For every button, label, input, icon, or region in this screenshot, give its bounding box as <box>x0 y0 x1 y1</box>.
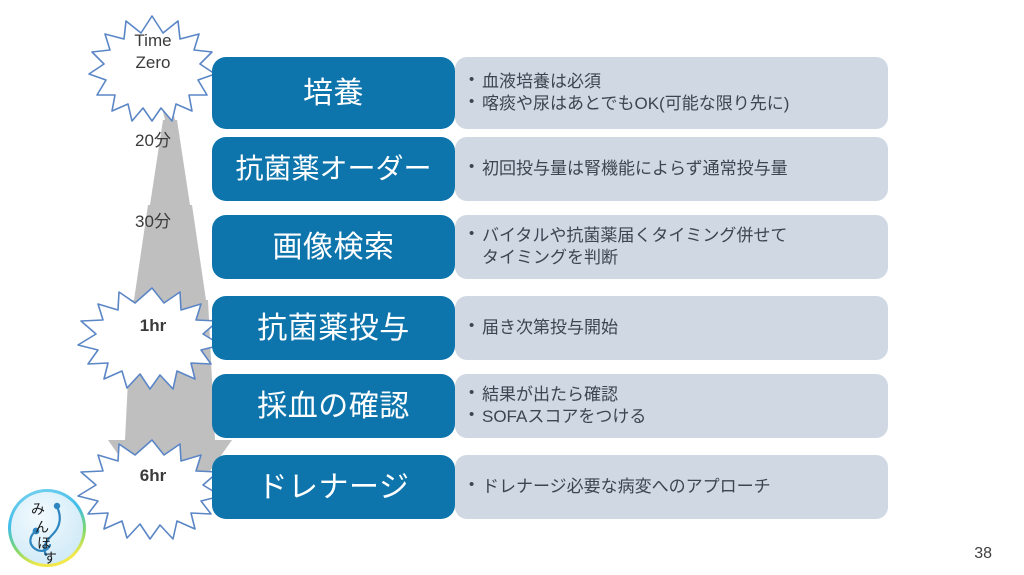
stage-row: 画像検索 バイタルや抗菌薬届くタイミング併せて タイミングを判断 <box>212 215 888 279</box>
burst-label-6hr: 6hr <box>113 466 193 486</box>
logo-char-2: ん <box>35 519 49 535</box>
stage-box-6[interactable]: ドレナージ <box>212 455 455 519</box>
page-number: 38 <box>974 545 992 563</box>
stage-row: 抗菌薬オーダー 初回投与量は腎機能によらず通常投与量 <box>212 137 888 201</box>
burst-time-zero-icon <box>89 16 215 121</box>
logo-char-1: み <box>31 501 45 517</box>
stage-label-1: 培養 <box>303 77 364 110</box>
detail-list-4: 届き次第投与開始 <box>469 317 878 339</box>
stage-row: 抗菌薬投与 届き次第投与開始 <box>212 296 888 360</box>
timeline-tick-30min: 30分 <box>108 207 198 232</box>
stage-label-5: 採血の確認 <box>257 390 410 423</box>
detail-item: SOFAスコアをつける <box>469 406 878 428</box>
detail-panel-2: 初回投与量は腎機能によらず通常投与量 <box>455 137 888 201</box>
detail-item: ドレナージ必要な病変へのアプローチ <box>469 476 878 498</box>
detail-panel-4: 届き次第投与開始 <box>455 296 888 360</box>
stage-row: 培養 血液培養は必須 喀痰や尿はあとでもOK(可能な限り先に) <box>212 57 888 129</box>
detail-item: バイタルや抗菌薬届くタイミング併せて タイミングを判断 <box>469 225 878 270</box>
stage-box-3[interactable]: 画像検索 <box>212 215 455 279</box>
detail-panel-5: 結果が出たら確認 SOFAスコアをつける <box>455 374 888 438</box>
logo-char-3: ほ <box>37 535 51 551</box>
detail-item: 初回投与量は腎機能によらず通常投与量 <box>469 158 878 180</box>
detail-item: 届き次第投与開始 <box>469 317 878 339</box>
detail-item: 喀痰や尿はあとでもOK(可能な限り先に) <box>469 93 878 115</box>
detail-panel-1: 血液培養は必須 喀痰や尿はあとでもOK(可能な限り先に) <box>455 57 888 129</box>
detail-panel-6: ドレナージ必要な病変へのアプローチ <box>455 455 888 519</box>
burst-6hr-icon <box>78 440 221 539</box>
timeline-tick-20min: 20分 <box>108 126 198 151</box>
stage-box-1[interactable]: 培養 <box>212 57 455 129</box>
stage-box-4[interactable]: 抗菌薬投与 <box>212 296 455 360</box>
detail-list-6: ドレナージ必要な病変へのアプローチ <box>469 476 878 498</box>
logo-char-4: す <box>43 550 57 566</box>
detail-list-1: 血液培養は必須 喀痰や尿はあとでもOK(可能な限り先に) <box>469 71 878 116</box>
stage-row: 採血の確認 結果が出たら確認 SOFAスコアをつける <box>212 374 888 438</box>
stage-row: ドレナージ ドレナージ必要な病変へのアプローチ <box>212 455 888 519</box>
detail-list-5: 結果が出たら確認 SOFAスコアをつける <box>469 384 878 429</box>
stage-box-2[interactable]: 抗菌薬オーダー <box>212 137 455 201</box>
stage-label-3: 画像検索 <box>273 231 395 264</box>
stage-label-2: 抗菌薬オーダー <box>235 154 431 185</box>
detail-item: 結果が出たら確認 <box>469 384 878 406</box>
burst-label-1hr: 1hr <box>113 316 193 336</box>
detail-panel-3: バイタルや抗菌薬届くタイミング併せて タイミングを判断 <box>455 215 888 279</box>
stage-box-5[interactable]: 採血の確認 <box>212 374 455 438</box>
detail-list-2: 初回投与量は腎機能によらず通常投与量 <box>469 158 878 180</box>
stage-label-4: 抗菌薬投与 <box>257 312 410 345</box>
detail-item: 血液培養は必須 <box>469 71 878 93</box>
burst-1hr-icon <box>78 288 221 389</box>
burst-label-time-zero: Time Zero <box>113 30 193 75</box>
detail-list-3: バイタルや抗菌薬届くタイミング併せて タイミングを判断 <box>469 225 878 270</box>
minhos-logo: み ん ほ す <box>6 487 88 569</box>
slide-canvas: Time Zero 1hr 6hr 20分 30分 培養 血液培養は必須 喀痰や… <box>0 0 1024 575</box>
stage-label-6: ドレナージ <box>258 471 410 504</box>
